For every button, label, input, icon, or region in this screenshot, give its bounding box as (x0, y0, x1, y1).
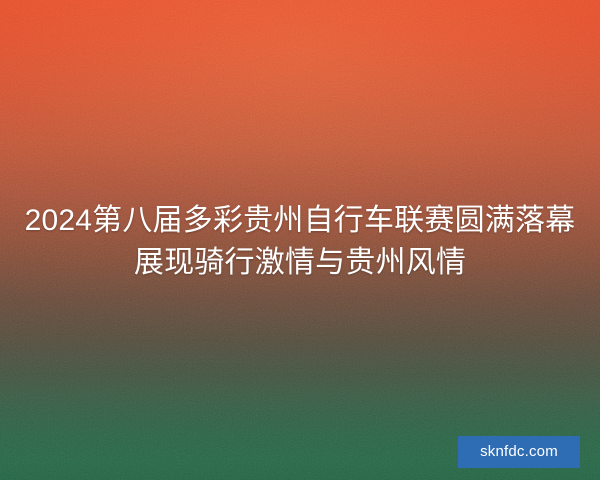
banner-image: 2024第八届多彩贵州自行车联赛圆满落幕 展现骑行激情与贵州风情 sknfdc.… (0, 0, 600, 480)
site-watermark-badge: sknfdc.com (458, 436, 580, 468)
article-headline: 2024第八届多彩贵州自行车联赛圆满落幕 展现骑行激情与贵州风情 (0, 200, 600, 284)
